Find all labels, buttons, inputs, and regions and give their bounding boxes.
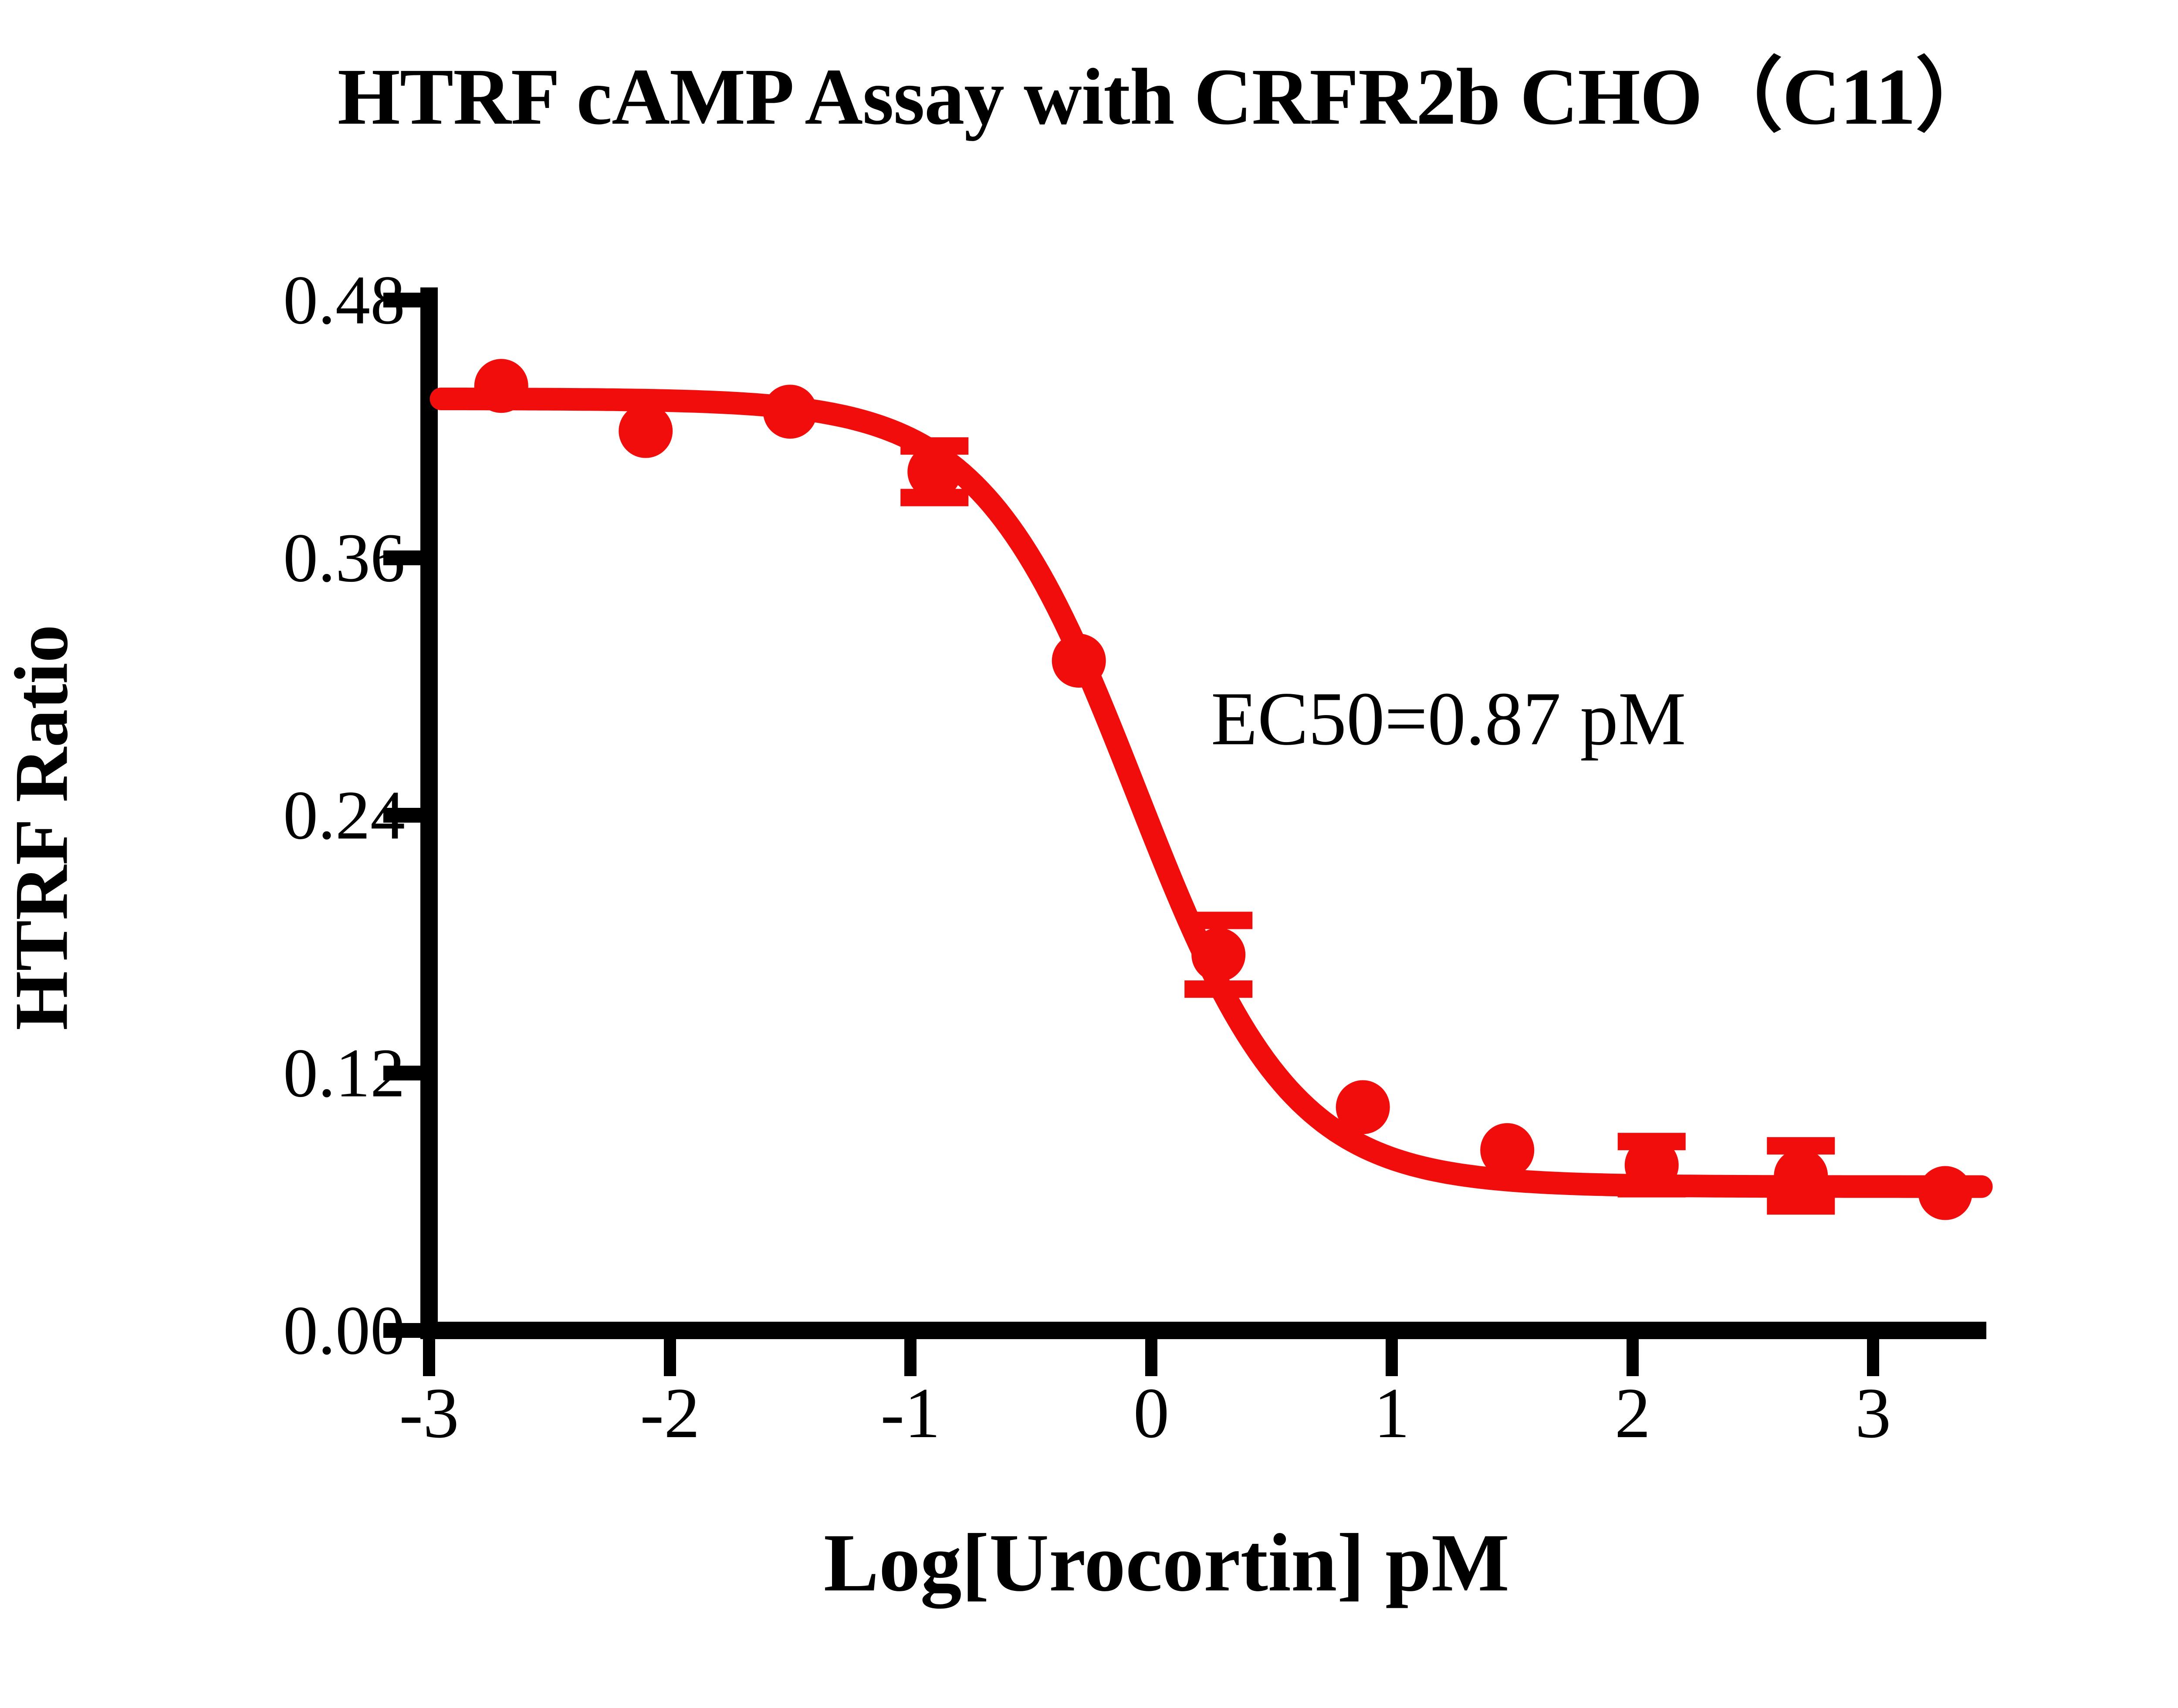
data-point bbox=[1918, 1166, 1972, 1220]
data-point bbox=[1480, 1123, 1534, 1177]
data-point bbox=[1625, 1138, 1679, 1192]
fit-curve bbox=[441, 399, 1982, 1187]
data-point bbox=[474, 359, 528, 413]
data-point bbox=[907, 445, 961, 499]
data-point bbox=[619, 404, 673, 458]
data-point bbox=[1191, 928, 1245, 982]
data-point bbox=[763, 385, 817, 439]
chart-figure: HTRF cAMP Assay with CRFR2b CHO（C11） HTR… bbox=[0, 0, 2178, 1708]
data-point bbox=[1336, 1080, 1390, 1134]
data-point-markers bbox=[474, 359, 1972, 1220]
data-point bbox=[1774, 1149, 1828, 1203]
data-point bbox=[1052, 634, 1106, 688]
plot-area bbox=[0, 0, 2178, 1708]
